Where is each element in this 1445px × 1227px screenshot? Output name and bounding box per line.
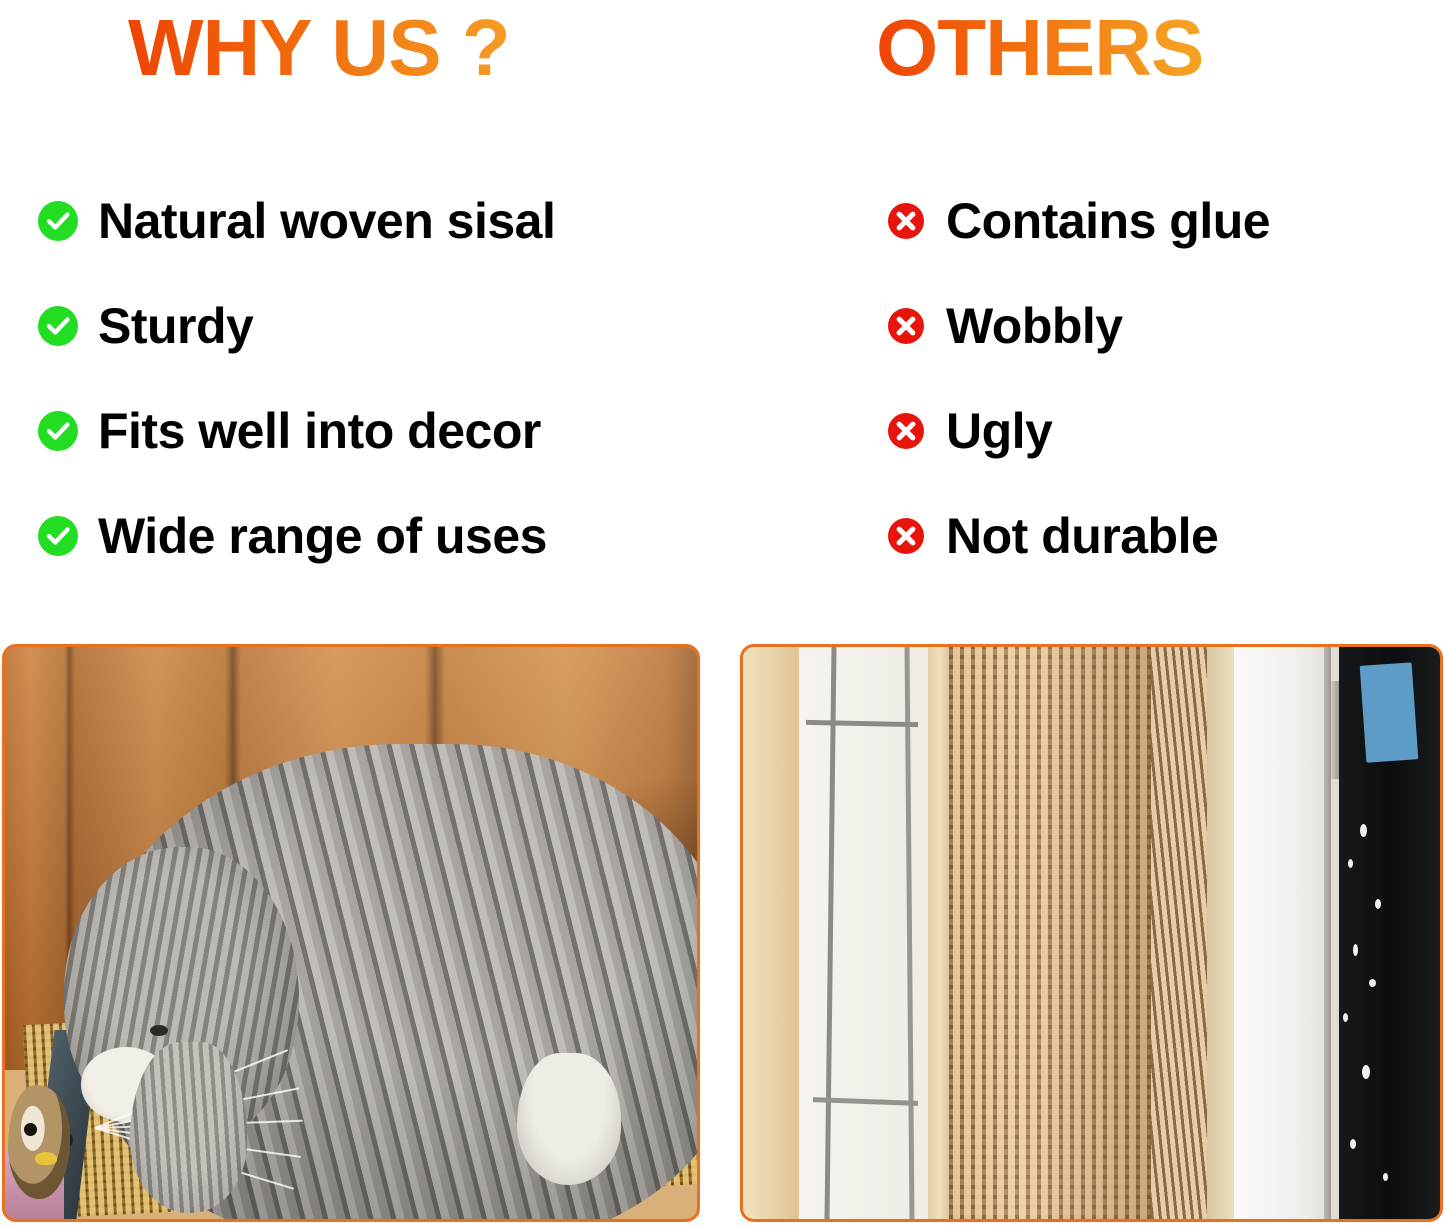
cat-front-paw [130, 1042, 248, 1214]
pro-label: Natural woven sisal [98, 193, 555, 249]
others-heading: OTHERS [876, 0, 1306, 96]
why-us-vs-others-comparison: WHY US ? OTHERS Natural woven sisal Stur… [0, 0, 1445, 1227]
pro-label: Fits well into decor [98, 403, 541, 459]
list-item: Fits well into decor [38, 378, 698, 483]
pros-list: Natural woven sisal Sturdy Fits well int… [38, 168, 698, 588]
cat-back-paw [517, 1053, 621, 1185]
x-circle-icon [888, 203, 924, 239]
check-circle-icon [38, 306, 78, 346]
photo-strip [0, 644, 1445, 1227]
headings-row: WHY US ? OTHERS [0, 0, 1445, 110]
white-door-trim [1234, 647, 1339, 1219]
check-circle-icon [38, 411, 78, 451]
check-circle-icon [38, 516, 78, 556]
photo-content [5, 647, 697, 1219]
list-item: Sturdy [38, 273, 698, 378]
competitor-sisal-mat-photo [740, 644, 1443, 1222]
cat-on-sisal-scratcher-photo [2, 644, 700, 1222]
con-label: Contains glue [946, 193, 1270, 249]
sisal-shading [949, 647, 1165, 1219]
con-label: Not durable [946, 508, 1218, 564]
light-wood-panel [743, 647, 799, 1219]
plush-toy-beak [35, 1152, 57, 1165]
why-us-heading: WHY US ? [128, 0, 668, 96]
plush-toy [8, 1085, 70, 1199]
cons-list: Contains glue Wobbly Ugly [888, 168, 1408, 588]
paint-speck [1375, 899, 1381, 909]
paint-speck [1360, 824, 1367, 837]
pro-label: Sturdy [98, 298, 253, 354]
blue-tape-square [1360, 662, 1419, 763]
list-item: Contains glue [888, 168, 1408, 273]
paint-speck [1369, 979, 1376, 987]
list-item: Not durable [888, 483, 1408, 588]
con-label: Ugly [946, 403, 1052, 459]
paint-speck [1348, 859, 1353, 868]
list-item: Ugly [888, 378, 1408, 483]
x-circle-icon [888, 518, 924, 554]
check-circle-icon [38, 201, 78, 241]
frayed-sisal-fibers [1151, 647, 1210, 1219]
x-circle-icon [888, 308, 924, 344]
list-item: Natural woven sisal [38, 168, 698, 273]
cat-eye [150, 1025, 168, 1036]
con-label: Wobbly [946, 298, 1123, 354]
x-circle-icon [888, 413, 924, 449]
paint-speck [1383, 1173, 1388, 1181]
wood-trim-right [1207, 647, 1238, 1219]
paint-speck [1353, 944, 1358, 956]
list-item: Wobbly [888, 273, 1408, 378]
photo-content [743, 647, 1440, 1219]
list-item: Wide range of uses [38, 483, 698, 588]
pro-label: Wide range of uses [98, 508, 547, 564]
